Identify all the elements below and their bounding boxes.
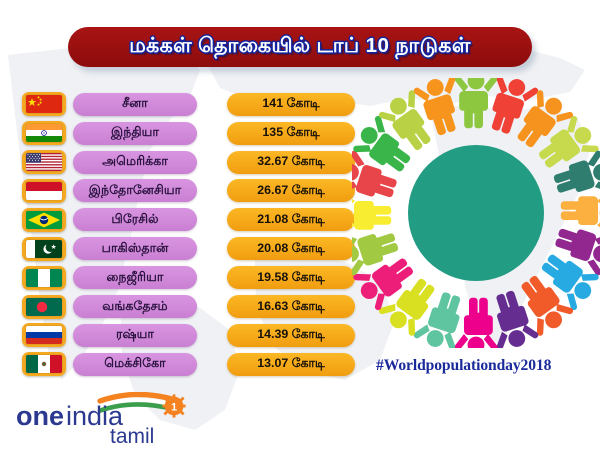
population-value-pill: 14.39 கோடி	[227, 324, 355, 347]
flag-nigeria-icon	[26, 269, 62, 287]
table-row: மெக்சிகோ 13.07 கோடி	[0, 351, 352, 378]
population-value: 20.08 கோடி	[257, 241, 325, 257]
country-name: நைஜீரியா	[107, 270, 164, 286]
country-name: பிரேசில்	[111, 212, 158, 228]
flag-indonesia-icon	[26, 182, 62, 200]
population-value: 19.58 கோடி	[257, 270, 325, 286]
population-value-pill: 19.58 கோடி	[227, 266, 355, 289]
country-name-pill: பாகிஸ்தான்	[73, 237, 197, 260]
infographic-canvas: மக்கள் தொகையில் டாப் 10 நாடுகள் சீனா 141…	[0, 0, 600, 450]
flag-russia-icon	[26, 326, 62, 344]
table-row: பிரேசில் 21.08 கோடி	[0, 207, 352, 234]
population-value: 16.63 கோடி	[257, 299, 325, 315]
country-name: மெக்சிகோ	[104, 356, 165, 372]
country-name: பாகிஸ்தான்	[102, 241, 169, 257]
population-value: 21.08 கோடி	[257, 212, 325, 228]
table-row: வங்கதேசம் 16.63 கோடி	[0, 293, 352, 320]
country-name: அமெரிக்கா	[102, 154, 168, 170]
population-value-pill: 16.63 கோடி	[227, 295, 355, 318]
flag-badge	[22, 179, 66, 203]
title-banner: மக்கள் தொகையில் டாப் 10 நாடுகள்	[68, 27, 532, 67]
logo-word-one: one	[16, 401, 64, 431]
population-value-pill: 26.67 கோடி	[227, 179, 355, 202]
country-name-pill: சீனா	[73, 93, 197, 116]
population-value-pill: 21.08 கோடி	[227, 208, 355, 231]
country-name: ரஷ்யா	[116, 327, 154, 343]
logo-badge-number: 1	[171, 402, 177, 414]
flag-badge	[22, 295, 66, 319]
table-row: நைஜீரியா 19.58 கோடி	[0, 264, 352, 291]
logo-word-tamil: tamil	[110, 425, 154, 444]
population-value-pill: 135 கோடி	[227, 122, 355, 145]
table-row: ரஷ்யா 14.39 கோடி	[0, 322, 352, 349]
table-row: இந்தோனேசியா 26.67 கோடி	[0, 178, 352, 205]
flag-badge	[22, 121, 66, 145]
logo-gear-badge: 1	[162, 394, 185, 417]
population-value-pill: 141 கோடி	[227, 93, 355, 116]
flag-pakistan-icon	[26, 240, 62, 258]
country-name: இந்தோனேசியா	[89, 183, 181, 199]
population-value-pill: 20.08 கோடி	[227, 237, 355, 260]
table-row: சீனா 141 கோடி	[0, 91, 352, 118]
flag-mexico-icon	[26, 355, 62, 373]
population-value: 26.67 கோடி	[257, 183, 325, 199]
flag-brazil-icon	[26, 211, 62, 229]
country-name: வங்கதேசம்	[102, 299, 167, 315]
country-name-pill: ரஷ்யா	[73, 324, 197, 347]
oneindia-tamil-logo[interactable]: one india 1 tamil	[14, 392, 204, 444]
country-population-table: சீனா 141 கோடி இந்தியா 1	[0, 91, 352, 380]
flag-badge	[22, 323, 66, 347]
flag-india-icon	[26, 124, 62, 142]
table-row: பாகிஸ்தான் 20.08 கோடி	[0, 235, 352, 262]
population-value: 135 கோடி	[262, 125, 319, 141]
population-value: 141 கோடி	[262, 96, 319, 112]
people-holding-hands-ring-graphic	[352, 78, 600, 348]
country-name-pill: இந்தோனேசியா	[73, 179, 197, 202]
table-row: இந்தியா 135 கோடி	[0, 120, 352, 147]
page-title: மக்கள் தொகையில் டாப் 10 நாடுகள்	[129, 34, 470, 60]
hashtag-label: #Worldpopulationday2018	[376, 357, 588, 375]
flag-bangladesh-icon	[26, 298, 62, 316]
country-name-pill: வங்கதேசம்	[73, 295, 197, 318]
country-name-pill: மெக்சிகோ	[73, 353, 197, 376]
table-row: அமெரிக்கா 32.67 கோடி	[0, 149, 352, 176]
population-value: 13.07 கோடி	[257, 356, 325, 372]
flag-badge	[22, 208, 66, 232]
flag-badge	[22, 352, 66, 376]
flag-badge	[22, 237, 66, 261]
country-name: இந்தியா	[111, 125, 159, 141]
flag-china-icon	[26, 95, 62, 113]
population-value-pill: 32.67 கோடி	[227, 151, 355, 174]
flag-badge	[22, 92, 66, 116]
population-value: 14.39 கோடி	[257, 327, 325, 343]
country-name-pill: நைஜீரியா	[73, 266, 197, 289]
population-value-pill: 13.07 கோடி	[227, 353, 355, 376]
flag-badge	[22, 266, 66, 290]
flag-usa-icon	[26, 153, 62, 171]
population-value: 32.67 கோடி	[257, 154, 325, 170]
country-name-pill: பிரேசில்	[73, 208, 197, 231]
country-name-pill: இந்தியா	[73, 122, 197, 145]
country-name-pill: அமெரிக்கா	[73, 151, 197, 174]
country-name: சீனா	[122, 96, 148, 112]
flag-badge	[22, 150, 66, 174]
